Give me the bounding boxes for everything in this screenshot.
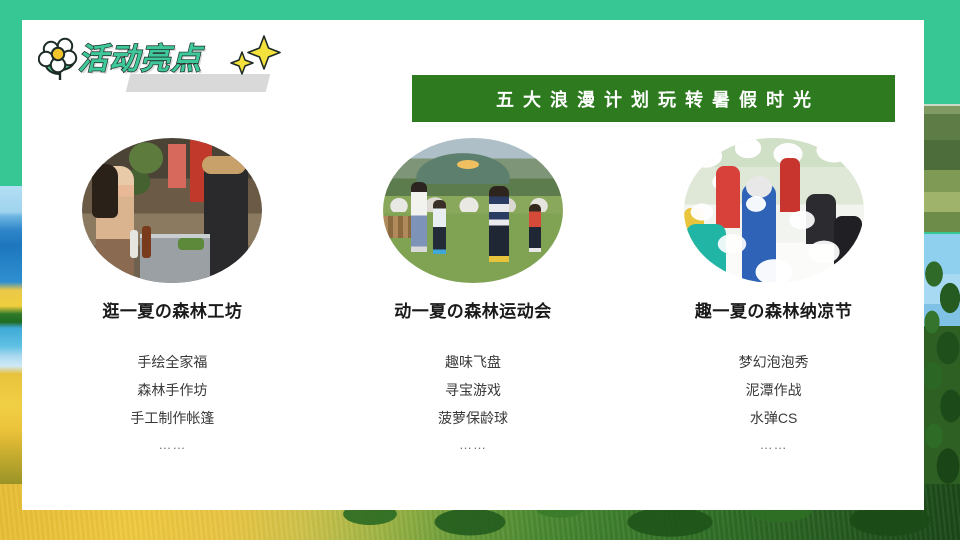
card-title: 动一夏の森林运动会 (394, 297, 552, 322)
page-title: 活动亮点 (78, 34, 202, 78)
list-item: 梦幻泡泡秀 (739, 348, 809, 376)
card-item-list: 梦幻泡泡秀 泥潭作战 水弹CS …… (739, 348, 809, 458)
card-item-list: 手绘全家福 森林手作坊 手工制作帐篷 …… (130, 348, 214, 458)
list-item-more: …… (760, 432, 788, 458)
list-item: 森林手作坊 (137, 376, 207, 404)
content-panel: 活动亮点 五大浪漫计划玩转暑假时光 逛一夏の森林工坊 手绘全家福 森林手作坊 手… (22, 20, 924, 510)
highlight-cards: 逛一夏の森林工坊 手绘全家福 森林手作坊 手工制作帐篷 …… 动一夏の森林运动会… (22, 138, 924, 458)
subtitle-banner: 五大浪漫计划玩转暑假时光 (412, 75, 895, 122)
highlight-card[interactable]: 动一夏の森林运动会 趣味飞盘 寻宝游戏 菠萝保龄球 …… (343, 138, 603, 458)
background-photo-right-foliage (924, 244, 960, 494)
highlight-card[interactable]: 趣一夏の森林纳凉节 梦幻泡泡秀 泥潭作战 水弹CS …… (644, 138, 904, 458)
subtitle-banner-text: 五大浪漫计划玩转暑假时光 (487, 86, 820, 112)
list-item: 寻宝游戏 (445, 376, 501, 404)
list-item: 趣味飞盘 (445, 348, 501, 376)
card-title: 趣一夏の森林纳凉节 (695, 297, 853, 322)
background-photo-right-mountain (924, 100, 960, 232)
list-item: 泥潭作战 (746, 376, 802, 404)
list-item: 菠萝保龄球 (438, 404, 508, 432)
list-item-more: …… (158, 432, 186, 458)
sparkle-icon (228, 34, 290, 80)
forest-sports-photo (383, 138, 563, 283)
forest-workshop-photo (82, 138, 262, 283)
card-item-list: 趣味飞盘 寻宝游戏 菠萝保龄球 …… (438, 348, 508, 458)
background-teal-right (924, 0, 960, 104)
highlight-card[interactable]: 逛一夏の森林工坊 手绘全家福 森林手作坊 手工制作帐篷 …… (42, 138, 302, 458)
card-title: 逛一夏の森林工坊 (102, 297, 242, 322)
list-item: 手绘全家福 (137, 348, 207, 376)
list-item-more: …… (459, 432, 487, 458)
forest-foam-party-photo (684, 138, 864, 283)
section-header: 活动亮点 (32, 28, 302, 98)
list-item: 手工制作帐篷 (130, 404, 214, 432)
list-item: 水弹CS (750, 404, 797, 432)
